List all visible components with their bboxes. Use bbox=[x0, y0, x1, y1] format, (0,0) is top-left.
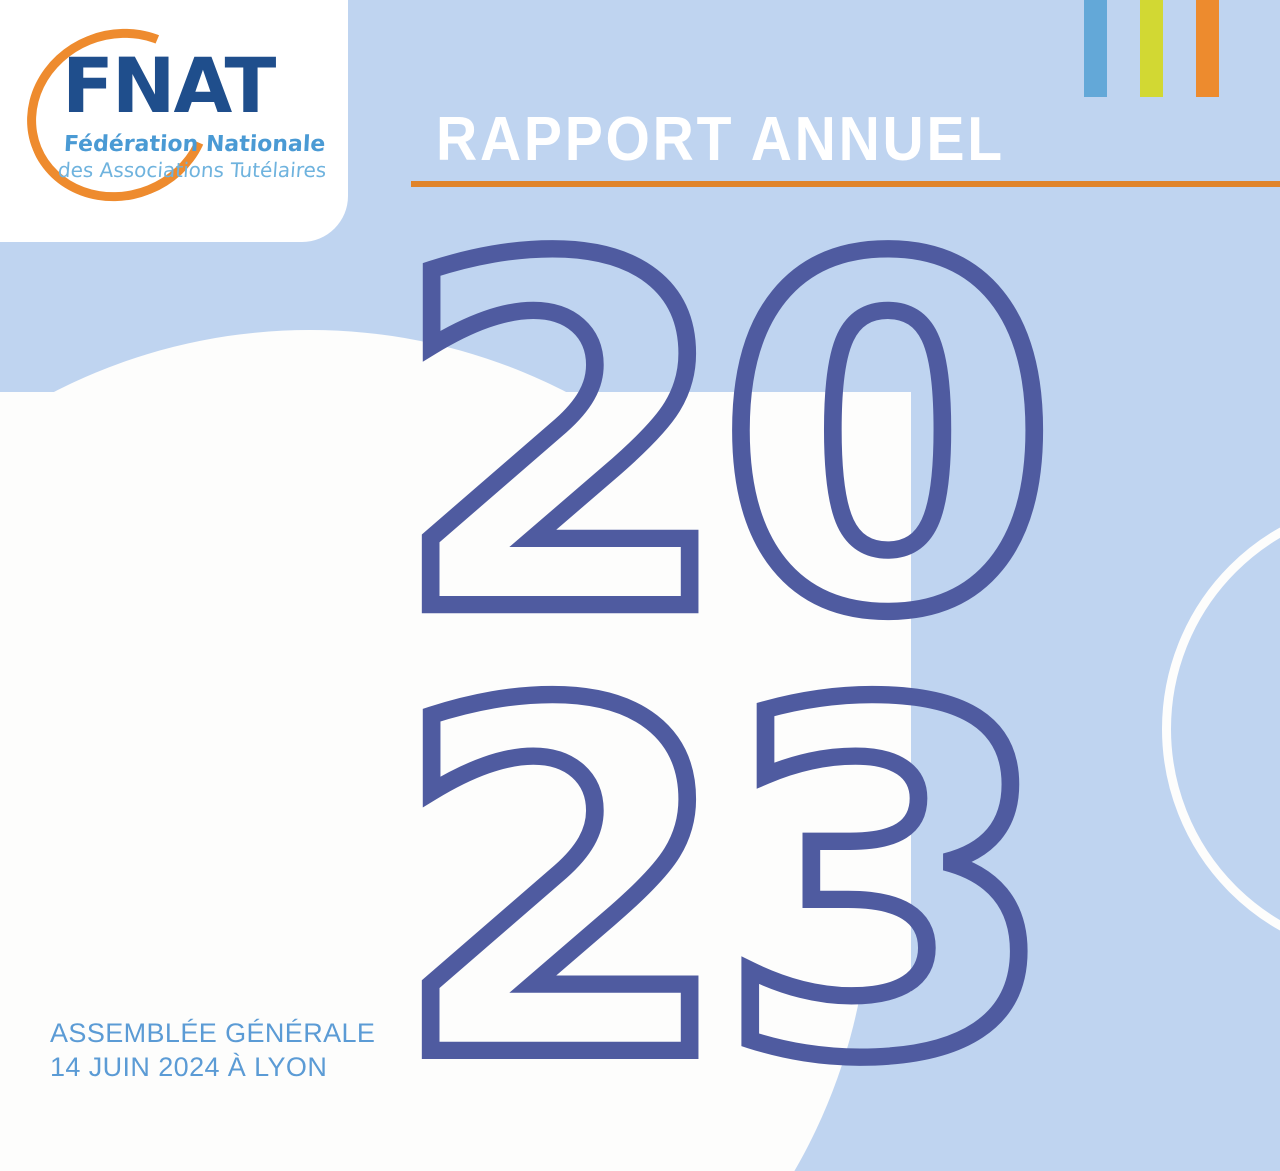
fnat-logo: FNAT Fédération Nationale des Associatio… bbox=[26, 24, 326, 214]
logo-subtitle-line1: Fédération Nationale bbox=[63, 132, 326, 157]
accent-bar-orange bbox=[1196, 0, 1219, 97]
event-name: ASSEMBLÉE GÉNÉRALE bbox=[50, 1016, 375, 1051]
year-line-20: 20 bbox=[392, 216, 1043, 662]
year-line-23: 23 bbox=[392, 662, 1043, 1108]
year-display: 20 23 bbox=[392, 216, 1043, 1108]
accent-bar-blue bbox=[1084, 0, 1107, 97]
page-title: RAPPORT ANNUEL bbox=[436, 104, 1005, 175]
title-underline-rule bbox=[411, 181, 1280, 187]
logo-subtitle-line2: des Associations Tutélaires bbox=[57, 158, 327, 182]
event-info: ASSEMBLÉE GÉNÉRALE 14 JUIN 2024 À LYON bbox=[50, 1016, 375, 1085]
event-date-location: 14 JUIN 2024 À LYON bbox=[50, 1050, 375, 1085]
report-cover: 20 23 FNAT Fédération Nationale des Asso… bbox=[0, 0, 1280, 1171]
logo-card: FNAT Fédération Nationale des Associatio… bbox=[0, 0, 348, 242]
accent-bar-lime bbox=[1140, 0, 1163, 97]
accent-bars-group bbox=[1084, 0, 1219, 97]
logo-wordmark: FNAT bbox=[62, 48, 274, 124]
white-ring-outline-shape bbox=[1162, 498, 1280, 960]
